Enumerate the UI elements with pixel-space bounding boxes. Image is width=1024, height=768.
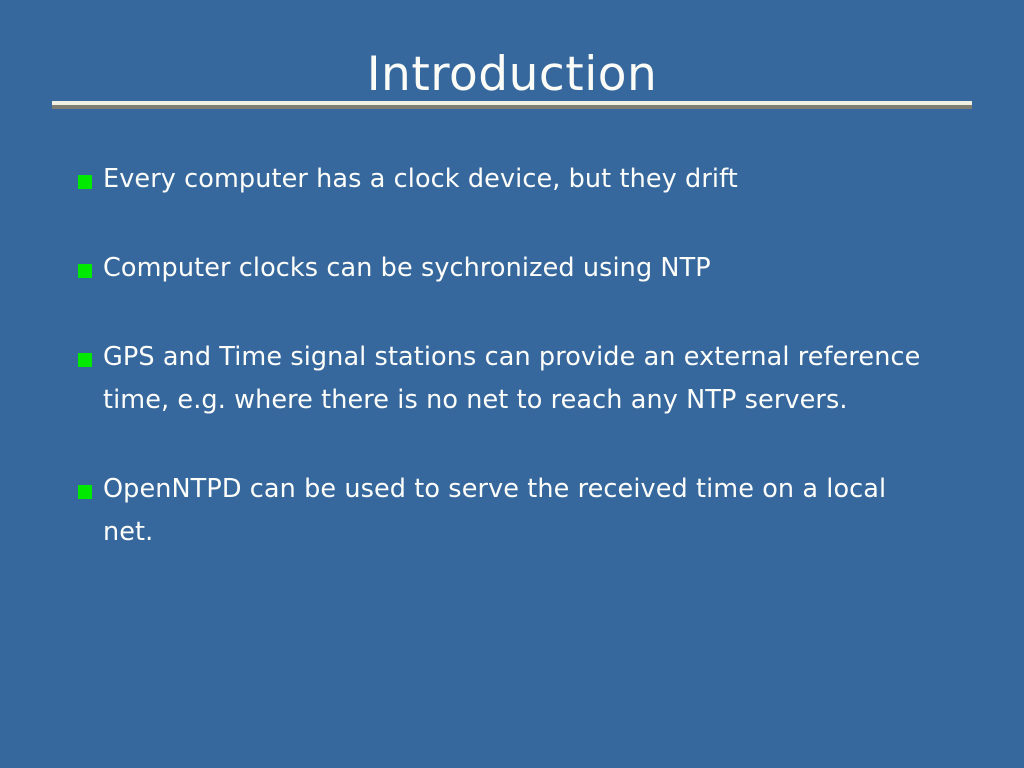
square-bullet-icon [78,175,92,189]
list-item-text: OpenNTPD can be used to serve the receiv… [103,468,943,554]
square-bullet-icon [78,485,92,499]
list-item-text: GPS and Time signal stations can provide… [103,336,943,422]
presentation-slide: Introduction Every computer has a clock … [0,0,1024,768]
page-title: Introduction [367,48,658,102]
list-item-text: Computer clocks can be sychronized using… [103,247,943,290]
list-item: Every computer has a clock device, but t… [76,158,976,201]
square-bullet-icon [78,264,92,278]
list-item: Computer clocks can be sychronized using… [76,247,976,290]
square-bullet-icon [78,353,92,367]
bullet-list: Every computer has a clock device, but t… [76,158,976,554]
title-underline-rule-shadow [52,105,972,109]
list-item: GPS and Time signal stations can provide… [76,336,976,422]
list-item: OpenNTPD can be used to serve the receiv… [76,468,976,554]
slide-title-block: Introduction [0,48,1024,102]
list-item-text: Every computer has a clock device, but t… [103,158,943,201]
